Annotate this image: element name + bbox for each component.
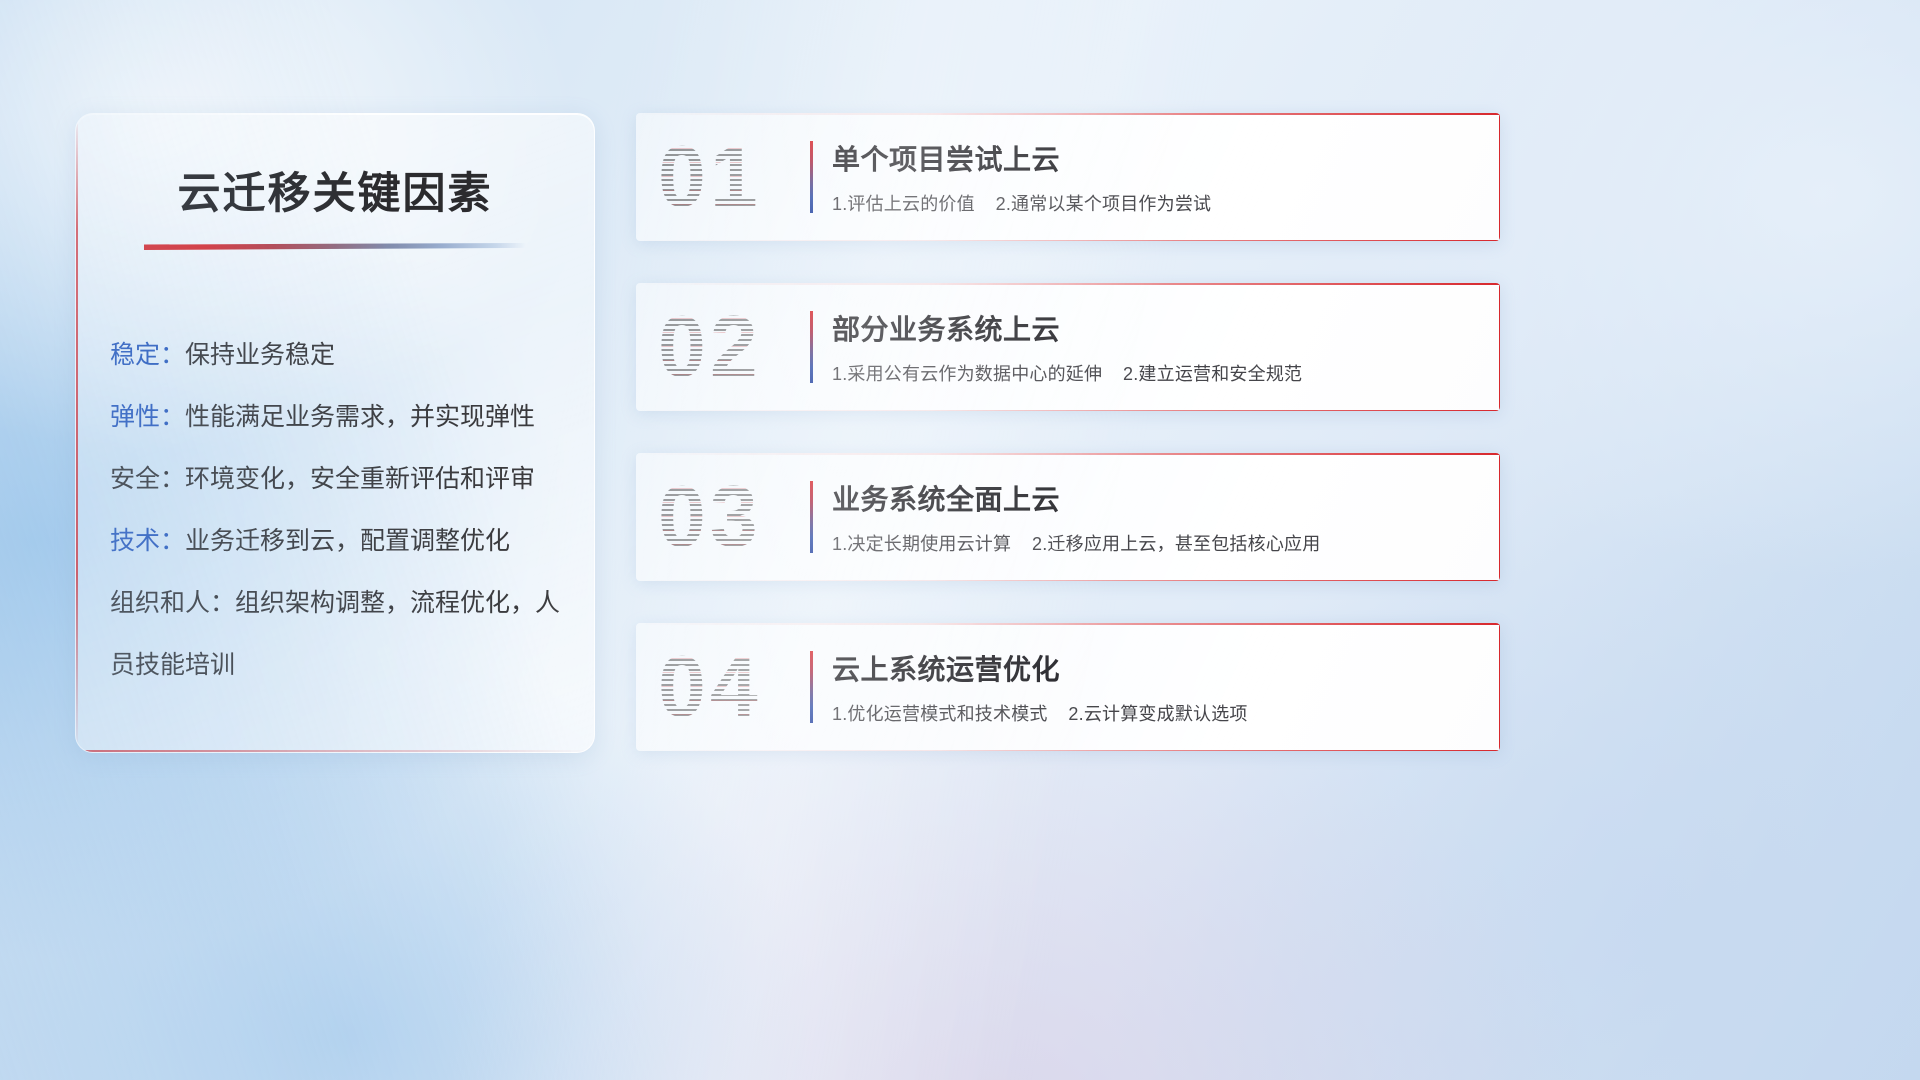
stage-card-title: 业务系统全面上云	[832, 478, 1320, 518]
stage-number-watermark-tint: 01	[658, 134, 762, 220]
accent-bar	[810, 311, 813, 383]
card-right-accent-edge	[1499, 283, 1501, 411]
key-factors-panel: 云迁移关键因素 稳定：保持业务稳定 弹性：性能满足业务需求，并实现弹性 安全：环…	[75, 113, 595, 753]
list-item-text: 业务迁移到云，配置调整优化	[185, 527, 510, 555]
stage-card-body: 云上系统运营优化 1.优化运营模式和技术模式 2.云计算变成默认选项	[832, 648, 1270, 726]
list-item-label: 稳定：	[110, 341, 185, 369]
slide-canvas: 云迁移关键因素 稳定：保持业务稳定 弹性：性能满足业务需求，并实现弹性 安全：环…	[0, 0, 1920, 1080]
stage-card-title: 云上系统运营优化	[832, 648, 1248, 688]
stage-number-watermark-tint: 03	[658, 474, 762, 560]
list-item: 技术：业务迁移到云，配置调整优化	[110, 510, 576, 572]
accent-bar	[810, 651, 813, 723]
stage-card-body: 部分业务系统上云 1.采用公有云作为数据中心的延伸 2.建立运营和安全规范	[832, 308, 1324, 386]
stage-card-description: 1.评估上云的价值 2.通常以某个项目作为尝试	[832, 190, 1211, 216]
stage-card-02[interactable]: 02 02 部分业务系统上云 1.采用公有云作为数据中心的延伸 2.建立运营和安…	[636, 283, 1500, 411]
list-item-text: 性能满足业务需求，并实现弹性	[185, 403, 535, 431]
list-item: 组织和人：组织架构调整，流程优化，人员技能培训	[110, 572, 576, 696]
card-right-accent-edge	[1499, 453, 1501, 581]
list-item-label: 技术：	[110, 527, 185, 555]
title-underline-gradient	[144, 243, 526, 250]
stage-card-01[interactable]: 01 01 单个项目尝试上云 1.评估上云的价值 2.通常以某个项目作为尝试	[636, 113, 1500, 241]
accent-bar	[810, 481, 813, 553]
page-title: 云迁移关键因素	[76, 159, 594, 221]
stage-number-watermark-tint: 02	[658, 304, 762, 390]
stage-card-description: 1.采用公有云作为数据中心的延伸 2.建立运营和安全规范	[832, 360, 1302, 386]
list-item-label: 安全：	[110, 465, 185, 493]
stage-card-description: 1.优化运营模式和技术模式 2.云计算变成默认选项	[832, 700, 1248, 726]
list-item: 弹性：性能满足业务需求，并实现弹性	[110, 386, 576, 448]
list-item-label: 组织和人：	[110, 589, 235, 617]
stage-card-title: 单个项目尝试上云	[832, 138, 1211, 178]
stage-card-description: 1.决定长期使用云计算 2.迁移应用上云，甚至包括核心应用	[832, 530, 1320, 556]
stage-card-body: 业务系统全面上云 1.决定长期使用云计算 2.迁移应用上云，甚至包括核心应用	[832, 478, 1342, 556]
stage-card-03[interactable]: 03 03 业务系统全面上云 1.决定长期使用云计算 2.迁移应用上云，甚至包括…	[636, 453, 1500, 581]
stage-number-watermark-tint: 04	[658, 644, 762, 730]
card-right-accent-edge	[1499, 623, 1501, 751]
accent-bar	[810, 141, 813, 213]
list-item-text: 环境变化，安全重新评估和评审	[185, 465, 535, 493]
stage-card-04[interactable]: 04 04 云上系统运营优化 1.优化运营模式和技术模式 2.云计算变成默认选项	[636, 623, 1500, 751]
list-item-label: 弹性：	[110, 403, 185, 431]
migration-stage-cards: 01 01 单个项目尝试上云 1.评估上云的价值 2.通常以某个项目作为尝试 0…	[636, 113, 1500, 793]
key-factors-list: 稳定：保持业务稳定 弹性：性能满足业务需求，并实现弹性 安全：环境变化，安全重新…	[110, 324, 594, 696]
list-item: 安全：环境变化，安全重新评估和评审	[110, 448, 576, 510]
stage-card-title: 部分业务系统上云	[832, 308, 1302, 348]
card-right-accent-edge	[1499, 113, 1501, 241]
stage-card-body: 单个项目尝试上云 1.评估上云的价值 2.通常以某个项目作为尝试	[832, 138, 1233, 216]
list-item: 稳定：保持业务稳定	[110, 324, 576, 386]
list-item-text: 保持业务稳定	[185, 341, 335, 369]
